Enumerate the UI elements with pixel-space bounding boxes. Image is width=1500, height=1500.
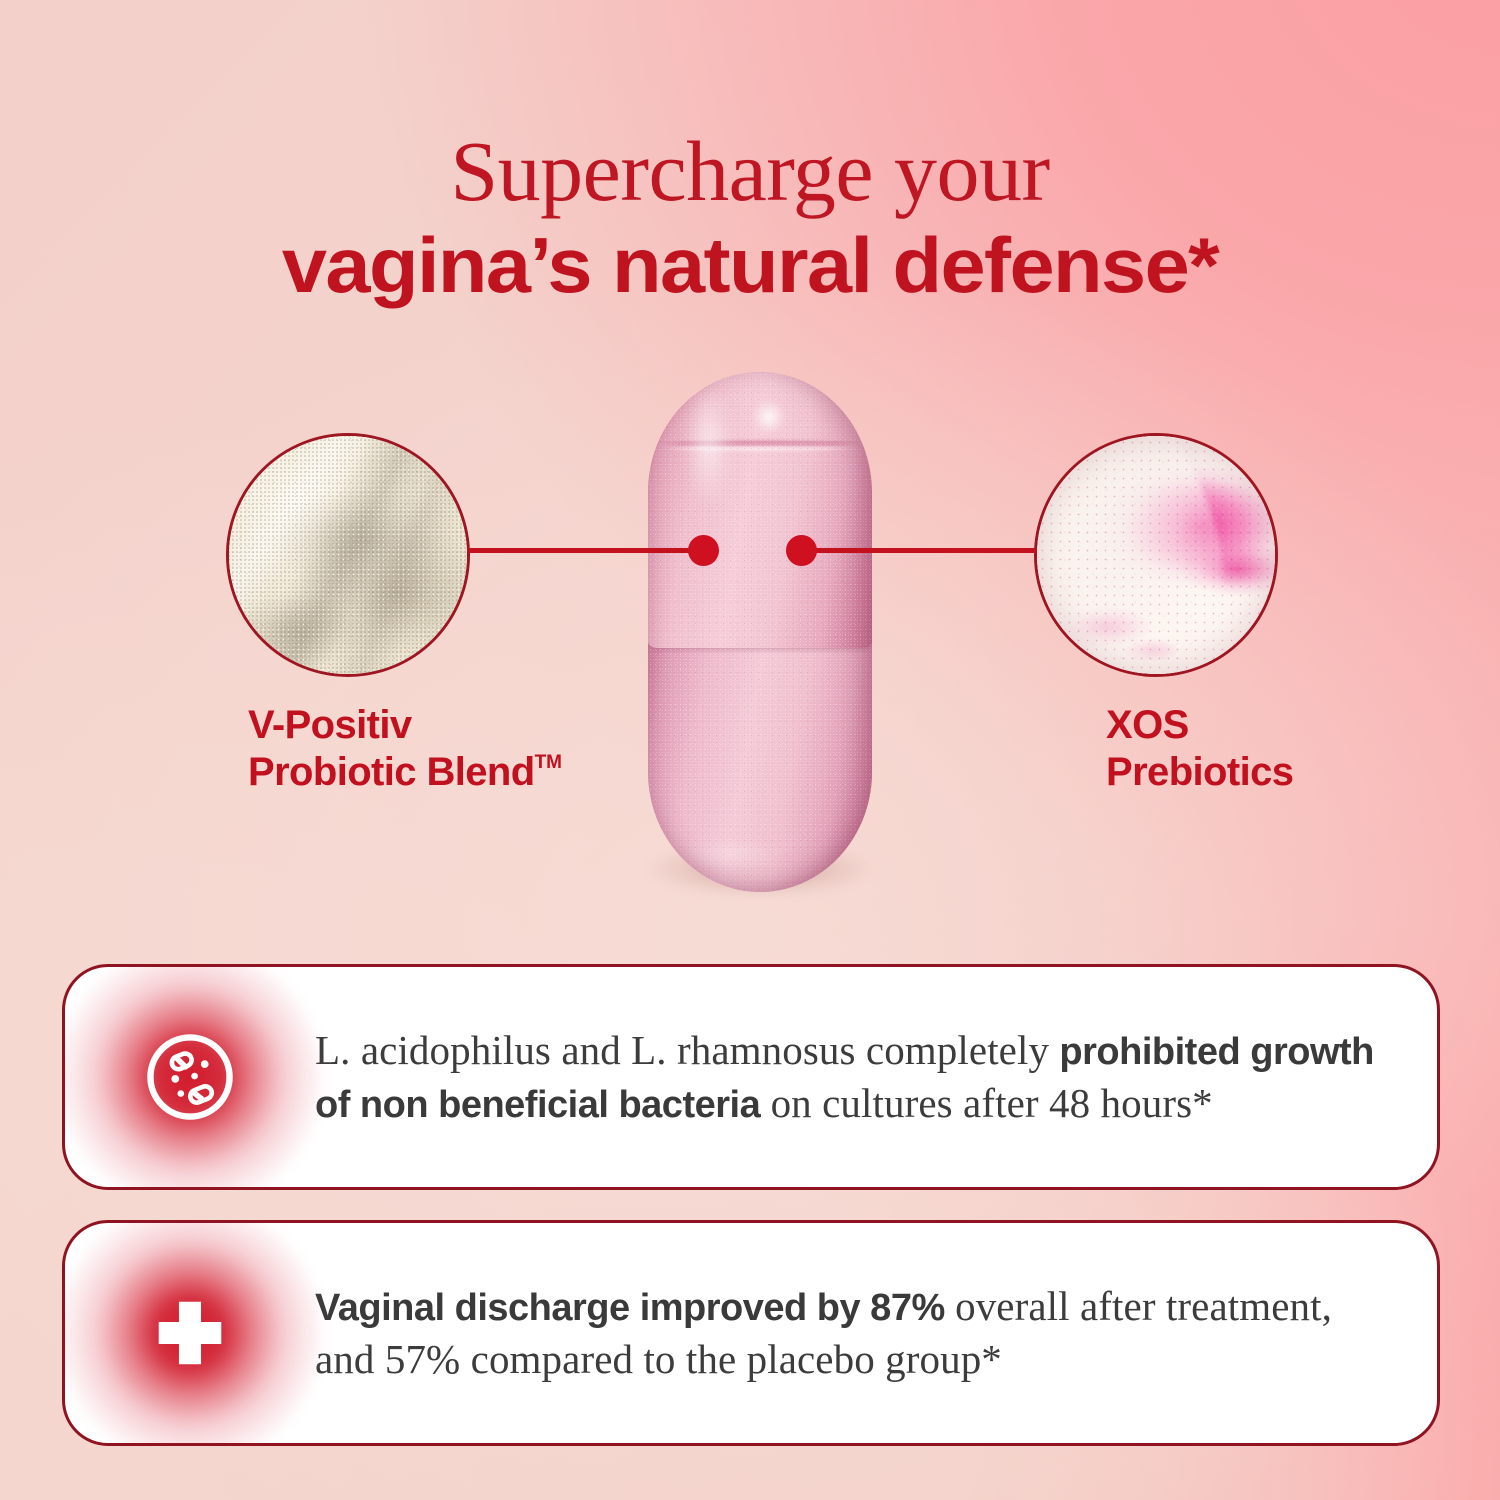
claim-2-seg-1: Vaginal discharge improved by 87% [315,1287,945,1329]
medical-cross-icon [144,1287,236,1379]
petri-dish-bacteria-icon [144,1031,236,1123]
ingredient-label-left-line2-text: Probiotic Blend [248,750,535,794]
claim-card-bacteria: L. acidophilus and L. rhamnosus complete… [62,964,1440,1190]
powder-grain-overlay [226,433,470,677]
claim-card-1-text: L. acidophilus and L. rhamnosus complete… [315,1024,1437,1131]
capsule-shell [648,372,872,892]
claim-card-1-icon-zone [65,964,315,1190]
ingredient-label-v-positiv: V-Positiv Probiotic BlendTM [248,702,562,796]
capsule-illustration [648,372,872,892]
headline-line-2: vagina’s natural defense* [0,222,1500,309]
ingredient-label-right-line2: Prebiotics [1106,749,1293,796]
headline-block: Supercharge your vagina’s natural defens… [0,128,1500,309]
ingredient-label-left-line1: V-Positiv [248,702,562,749]
claim-1-seg-1: L. acidophilus and L. rhamnosus complete… [315,1027,1059,1073]
ingredient-image-xos-microscopy [1034,433,1278,677]
ingredient-label-left-line2: Probiotic BlendTM [248,749,562,796]
connector-line-left [468,548,704,553]
headline-line-1: Supercharge your [0,128,1500,214]
connector-dot-left [688,535,719,566]
ingredient-label-right-line1: XOS [1106,702,1293,749]
connector-line-right [798,548,1036,553]
ingredient-image-probiotic-powder [226,433,470,677]
connector-dot-right [786,535,817,566]
claim-card-2-icon-zone [65,1220,315,1446]
ingredient-label-xos: XOS Prebiotics [1106,702,1293,796]
microscopy-vignette [1037,436,1275,674]
capsule-edge-shading [648,372,872,892]
claim-1-seg-3: on cultures after 48 hours* [760,1080,1213,1126]
trademark-symbol: TM [535,752,562,773]
claim-card-2-text: Vaginal discharge improved by 87% overal… [315,1280,1437,1387]
claim-card-discharge: Vaginal discharge improved by 87% overal… [62,1220,1440,1446]
